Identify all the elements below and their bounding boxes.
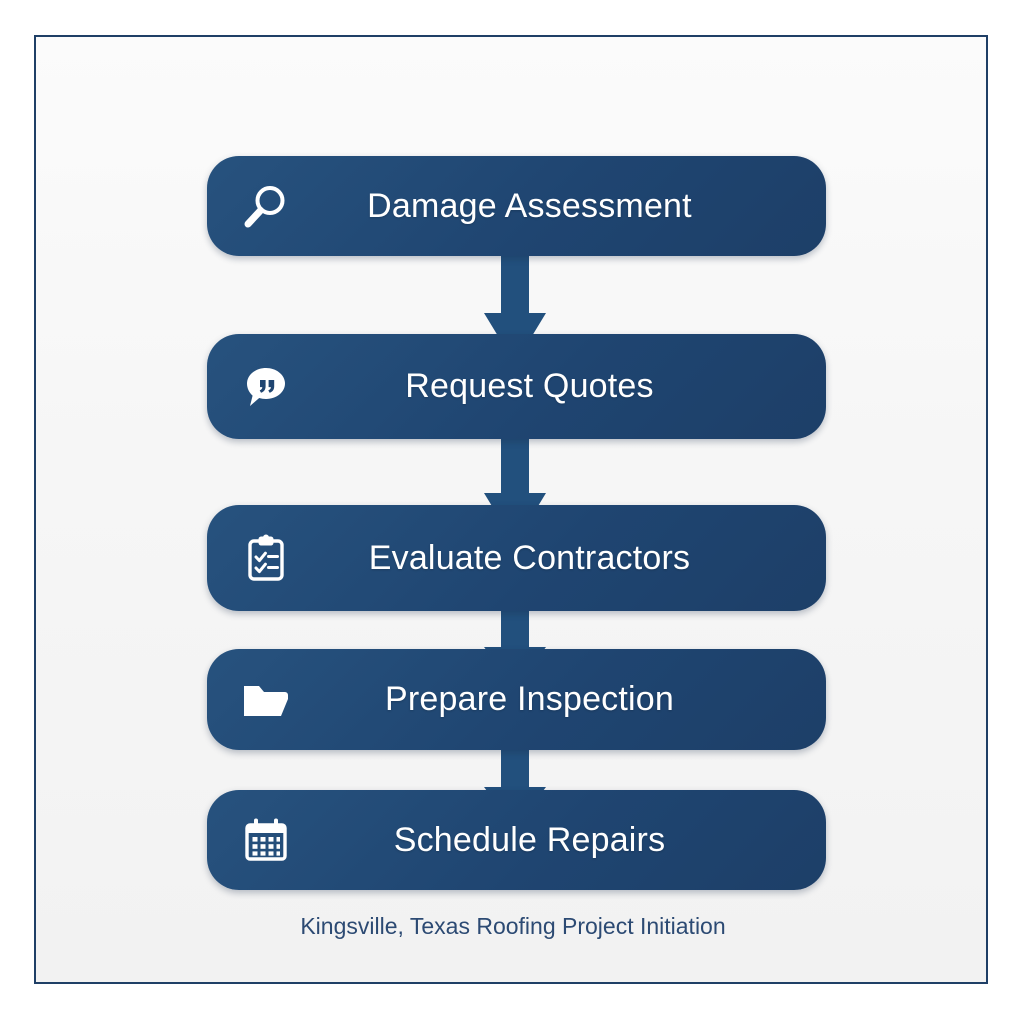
flow-step-label: Request Quotes [207, 367, 826, 406]
diagram-caption: Kingsville, Texas Roofing Project Initia… [36, 913, 990, 940]
diagram-frame: Damage Assessment Request Quotes [34, 35, 988, 984]
clipboard-checklist-icon [240, 532, 292, 584]
flow-step-prepare-inspection[interactable]: Prepare Inspection [207, 649, 826, 750]
magnifier-icon [240, 180, 292, 232]
flow-step-schedule-repairs[interactable]: Schedule Repairs [207, 790, 826, 890]
flow-step-request-quotes[interactable]: Request Quotes [207, 334, 826, 439]
flow-step-label: Schedule Repairs [207, 821, 826, 860]
flow-step-label: Damage Assessment [207, 187, 826, 226]
open-folder-icon [240, 674, 292, 726]
calendar-icon [240, 814, 292, 866]
flow-step-evaluate-contractors[interactable]: Evaluate Contractors [207, 505, 826, 611]
flow-step-damage-assessment[interactable]: Damage Assessment [207, 156, 826, 256]
speech-bubble-quote-icon [240, 361, 292, 413]
flowchart: Damage Assessment Request Quotes [36, 37, 990, 986]
diagram-canvas: Damage Assessment Request Quotes [0, 0, 1024, 1024]
flow-step-label: Prepare Inspection [207, 680, 826, 719]
flow-step-label: Evaluate Contractors [207, 539, 826, 578]
